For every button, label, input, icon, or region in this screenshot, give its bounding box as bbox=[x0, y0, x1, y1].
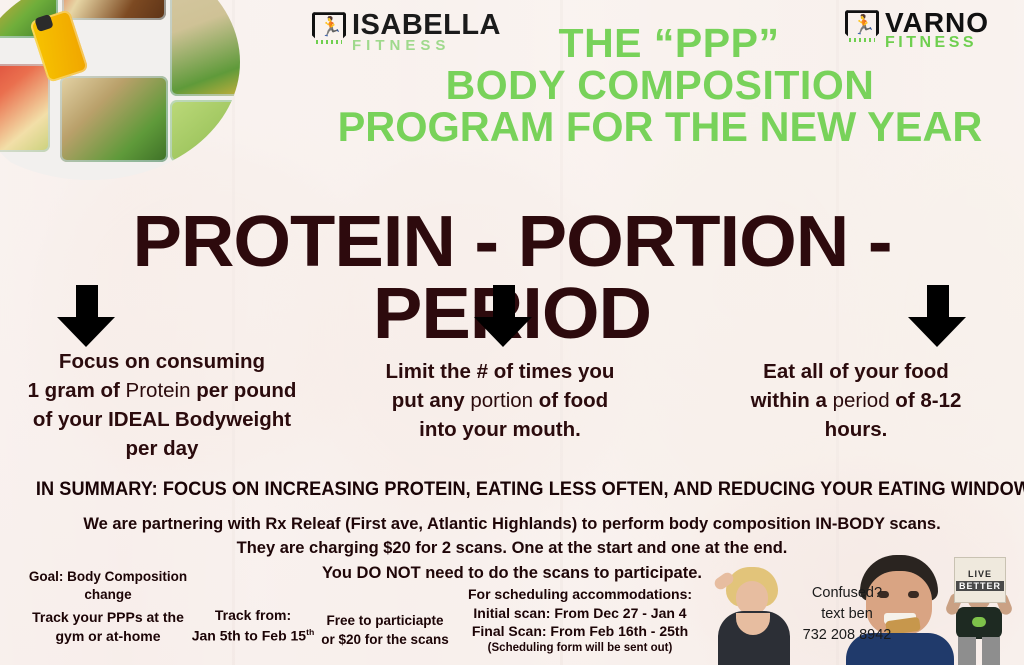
pillar-period: Eat all of your food within a period of … bbox=[700, 357, 1012, 444]
pillar-period-line-2: within a period of 8-12 bbox=[700, 386, 1012, 415]
pillar-protein-l2c: per pound bbox=[191, 379, 297, 402]
logo-varno-name: VARNO bbox=[885, 10, 989, 36]
detail-goal-line-1: Goal: Body Composition bbox=[8, 568, 208, 586]
pillar-portion-line-1: Limit the # of times you bbox=[340, 357, 660, 386]
summary-line: IN SUMMARY: FOCUS ON INCREASING PROTEIN,… bbox=[36, 478, 988, 501]
logo-isabella-name: ISABELLA bbox=[352, 12, 501, 39]
pillar-protein-line-3: of your IDEAL Bodyweight bbox=[6, 405, 318, 434]
detail-scheduling: For scheduling accommodations: Initial s… bbox=[450, 585, 710, 656]
pillar-portion: Limit the # of times you put any portion… bbox=[340, 357, 660, 444]
food-container-broccoli bbox=[60, 76, 168, 162]
logo-isabella-fitness[interactable]: 🏃 ISABELLA FITNESS bbox=[312, 12, 501, 52]
pillar-portion-l2a: put any bbox=[392, 389, 471, 412]
partner-line-1: We are partnering with Rx Releaf (First … bbox=[15, 512, 1008, 536]
detail-from-dates-text: Jan 5th to Feb 15 bbox=[192, 627, 306, 643]
contact-phone-number[interactable]: 732 208 8942 bbox=[782, 625, 912, 646]
runner-badge-icon: 🏃 bbox=[845, 10, 879, 50]
pillar-period-line-3: hours. bbox=[700, 415, 1012, 444]
pillar-protein-line-4: per day bbox=[6, 434, 318, 463]
pillar-period-line-1: Eat all of your food bbox=[700, 357, 1012, 386]
pillar-protein-l2a: 1 gram of bbox=[28, 379, 126, 402]
partner-line-2: They are charging $20 for 2 scans. One a… bbox=[15, 536, 1008, 560]
detail-contact[interactable]: Confused? text ben 732 208 8942 bbox=[782, 583, 912, 646]
detail-free: Free to particiapte or $20 for the scans bbox=[300, 612, 470, 650]
pillar-period-l2a: within a bbox=[751, 389, 833, 412]
logo-varno-sub: FITNESS bbox=[885, 36, 989, 51]
detail-sched-final: Final Scan: From Feb 16th - 25th bbox=[450, 622, 710, 641]
detail-sched-note: (Scheduling form will be sent out) bbox=[450, 641, 710, 656]
detail-sched-initial: Initial scan: From Dec 27 - Jan 4 bbox=[450, 604, 710, 623]
down-arrow-icon bbox=[908, 285, 966, 347]
pillar-portion-line-3: into your mouth. bbox=[340, 415, 660, 444]
down-arrow-icon bbox=[474, 285, 532, 347]
pillar-portion-l2c: of food bbox=[533, 389, 608, 412]
runner-badge-icon: 🏃 bbox=[312, 12, 346, 52]
detail-free-line-1: Free to particiapte bbox=[300, 612, 470, 631]
pillar-protein-line-1: Focus on consuming bbox=[6, 347, 318, 376]
detail-goal-line-2: change bbox=[8, 586, 208, 604]
pillar-protein-keyword: Protein bbox=[126, 379, 191, 402]
pillar-period-l2c: of 8-12 bbox=[890, 389, 962, 412]
logo-varno-fitness[interactable]: 🏃 VARNO FITNESS bbox=[845, 10, 989, 50]
pillar-protein-line-2: 1 gram of Protein per pound bbox=[6, 376, 318, 405]
detail-free-line-2: or $20 for the scans bbox=[300, 631, 470, 650]
pillar-portion-keyword: portion bbox=[470, 389, 533, 412]
contact-line-1: Confused? bbox=[782, 583, 912, 604]
pillar-period-keyword: period bbox=[833, 389, 890, 412]
contact-line-2: text ben bbox=[782, 604, 912, 625]
down-arrow-icon bbox=[57, 285, 115, 347]
detail-goal: Goal: Body Composition change bbox=[8, 568, 208, 604]
logo-isabella-sub: FITNESS bbox=[352, 39, 501, 53]
food-container-fruit bbox=[0, 64, 50, 152]
pillar-protein: Focus on consuming 1 gram of Protein per… bbox=[6, 347, 318, 463]
food-container-bread bbox=[62, 0, 166, 20]
pillar-portion-line-2: put any portion of food bbox=[340, 386, 660, 415]
title-line-2: BODY COMPOSITION bbox=[296, 64, 1024, 106]
title-line-3: PROGRAM FOR THE NEW YEAR bbox=[296, 106, 1024, 149]
detail-sched-title: For scheduling accommodations: bbox=[450, 585, 710, 604]
